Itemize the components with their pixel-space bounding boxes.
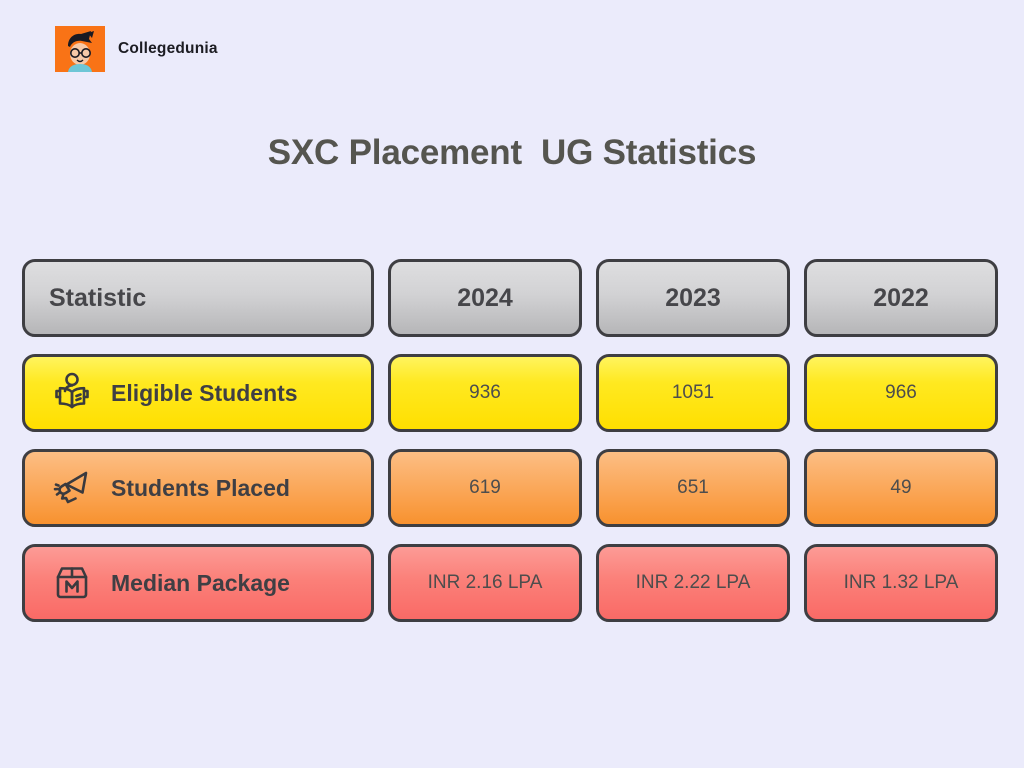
package-box-m-icon [49,560,95,606]
cell-value: INR 2.22 LPA [636,572,751,594]
person-reading-book-icon [49,370,95,416]
cell-value: 1051 [672,382,714,404]
row-label-students-placed: Students Placed [22,449,374,527]
cell-students-placed-2023: 651 [596,449,790,527]
collegedunia-graduate-face-icon [55,26,105,72]
row-label-text: Eligible Students [111,380,298,407]
cell-median-package-2024: INR 2.16 LPA [388,544,582,622]
cell-median-package-2022: INR 1.32 LPA [804,544,998,622]
header-year-label: 2023 [665,284,721,313]
brand-header: Collegedunia [55,26,218,72]
cell-value: 619 [469,477,501,499]
header-cell-statistic: Statistic [22,259,374,337]
page-title: SXC Placement UG Statistics [0,133,1024,173]
cell-value: INR 2.16 LPA [428,572,543,594]
row-label-text: Median Package [111,570,290,597]
table-row: Median Package INR 2.16 LPA INR 2.22 LPA… [22,544,998,622]
cell-value: 49 [890,477,911,499]
row-label-median-package: Median Package [22,544,374,622]
cell-students-placed-2022: 49 [804,449,998,527]
cell-students-placed-2024: 619 [388,449,582,527]
cell-eligible-students-2022: 966 [804,354,998,432]
cell-median-package-2023: INR 2.22 LPA [596,544,790,622]
cell-value: 966 [885,382,917,404]
table-header-row: Statistic 2024 2023 2022 [22,259,998,337]
header-cell-2023: 2023 [596,259,790,337]
cell-eligible-students-2023: 1051 [596,354,790,432]
header-year-label: 2022 [873,284,929,313]
placement-statistics-table: Statistic 2024 2023 2022 [22,259,998,622]
table-row: Students Placed 619 651 49 [22,449,998,527]
header-statistic-label: Statistic [49,284,146,313]
table-row: Eligible Students 936 1051 966 [22,354,998,432]
brand-name: Collegedunia [118,40,218,58]
cell-value: 936 [469,382,501,404]
row-label-text: Students Placed [111,475,290,502]
header-cell-2024: 2024 [388,259,582,337]
row-label-eligible-students: Eligible Students [22,354,374,432]
header-cell-2022: 2022 [804,259,998,337]
header-year-label: 2024 [457,284,513,313]
cell-eligible-students-2024: 936 [388,354,582,432]
cell-value: INR 1.32 LPA [844,572,959,594]
cell-value: 651 [677,477,709,499]
megaphone-icon [49,465,95,511]
